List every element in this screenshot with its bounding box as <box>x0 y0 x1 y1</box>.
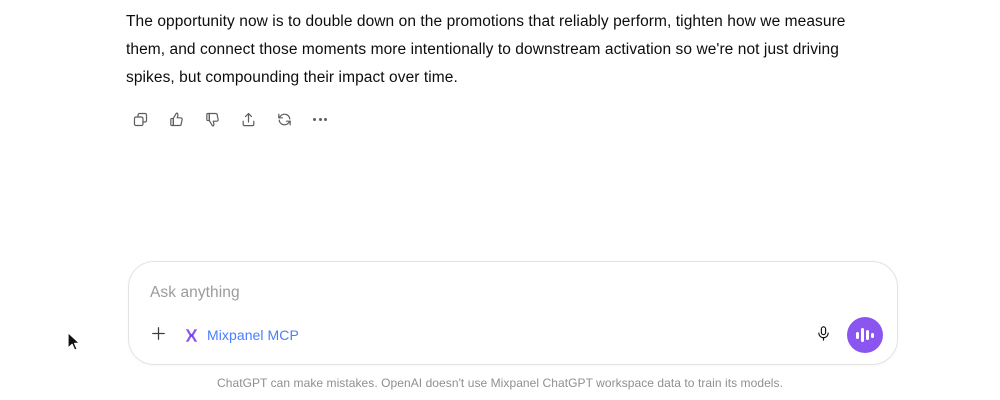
thumbs-down-button[interactable] <box>198 105 226 133</box>
thumbs-up-icon <box>168 111 185 128</box>
composer-toolbar: Mixpanel MCP <box>143 317 883 353</box>
share-button[interactable] <box>234 105 262 133</box>
copy-icon <box>132 111 149 128</box>
composer[interactable]: Ask anything Mixpanel MC <box>128 261 898 365</box>
regenerate-icon <box>276 111 293 128</box>
assistant-message-text: The opportunity now is to double down on… <box>126 8 886 92</box>
voice-waveform-icon <box>856 327 874 343</box>
more-options-button[interactable] <box>306 105 334 133</box>
thumbs-down-icon <box>204 111 221 128</box>
composer-input-area[interactable]: Ask anything <box>150 283 876 303</box>
message-action-row <box>126 105 334 133</box>
mouse-cursor <box>66 331 82 353</box>
footer-disclaimer: ChatGPT can make mistakes. OpenAI doesn'… <box>0 376 1000 390</box>
assistant-message: The opportunity now is to double down on… <box>126 8 886 92</box>
composer-toolbar-right <box>808 317 883 353</box>
mixpanel-mcp-label: Mixpanel MCP <box>207 327 299 343</box>
copy-button[interactable] <box>126 105 154 133</box>
voice-mode-button[interactable] <box>847 317 883 353</box>
regenerate-button[interactable] <box>270 105 298 133</box>
composer-toolbar-left: Mixpanel MCP <box>143 320 306 350</box>
mixpanel-logo-icon <box>183 327 200 344</box>
prompt-input-placeholder[interactable]: Ask anything <box>150 283 876 303</box>
add-attachment-button[interactable] <box>143 320 173 350</box>
dictate-button[interactable] <box>808 320 838 350</box>
plus-icon <box>149 324 168 346</box>
microphone-icon <box>815 325 832 345</box>
thumbs-up-button[interactable] <box>162 105 190 133</box>
mixpanel-mcp-chip[interactable]: Mixpanel MCP <box>179 324 306 347</box>
share-upload-icon <box>240 111 257 128</box>
ellipsis-icon <box>313 118 327 121</box>
